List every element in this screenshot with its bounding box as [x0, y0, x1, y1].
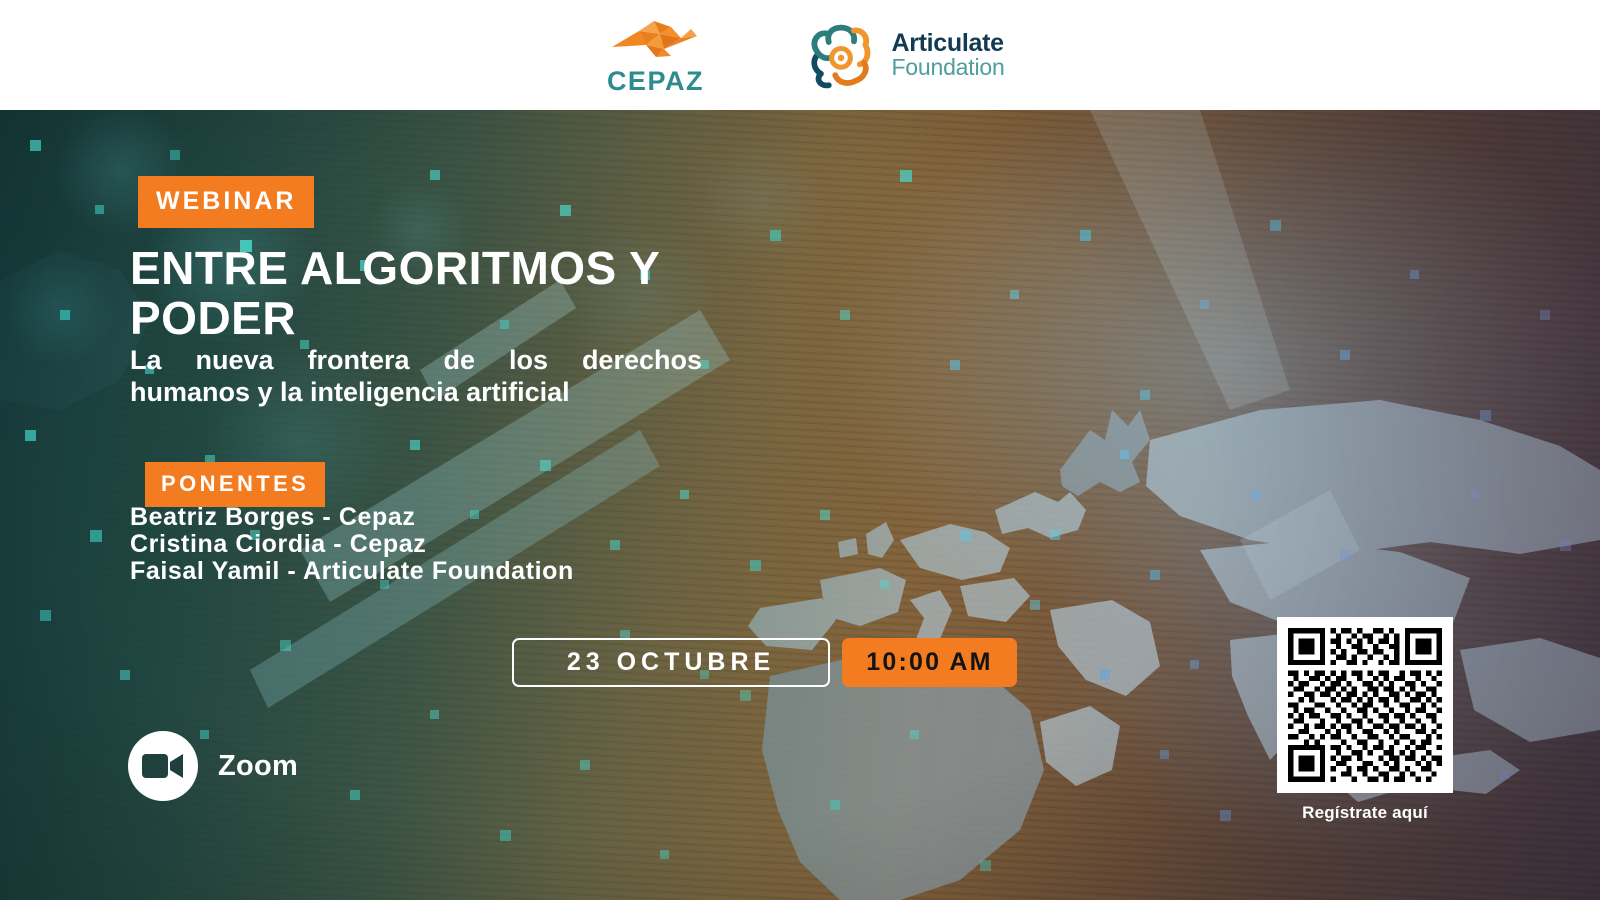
event-date-pill: 23 OCTUBRE — [512, 638, 830, 687]
qr-code-icon[interactable] — [1288, 628, 1442, 782]
origami-crane-icon — [608, 16, 703, 66]
page-title: ENTRE ALGORITMOS Y PODER — [130, 243, 820, 343]
speakers-badge: PONENTES — [145, 462, 325, 507]
video-camera-icon — [142, 753, 184, 779]
zoom-icon-circle — [128, 731, 198, 801]
poster-content: WEBINAR ENTRE ALGORITMOS Y PODER La nuev… — [0, 110, 1600, 900]
cepaz-logo: CEPAZ — [595, 16, 715, 95]
event-time-pill: 10:00 AM — [842, 638, 1017, 687]
speaker-item: Beatriz Borges - Cepaz — [130, 504, 574, 531]
speaker-item: Cristina Ciordia - Cepaz — [130, 531, 574, 558]
qr-caption: Regístrate aquí — [1277, 803, 1453, 823]
title-line-1: ENTRE ALGORITMOS Y — [130, 243, 820, 293]
articulate-wordmark-line2: Foundation — [891, 56, 1004, 79]
articulate-circle-mark-icon — [805, 19, 877, 91]
articulate-wordmark-line1: Articulate — [891, 31, 1004, 57]
registration-qr-block[interactable]: Regístrate aquí — [1277, 617, 1453, 823]
page-subtitle: La nueva frontera de los derechos humano… — [130, 345, 702, 408]
webinar-poster: CEPAZ Articula — [0, 0, 1600, 900]
title-line-2: PODER — [130, 293, 820, 343]
platform-row: Zoom — [128, 731, 298, 801]
articulate-foundation-logo: Articulate Foundation — [805, 19, 1004, 91]
speakers-list: Beatriz Borges - Cepaz Cristina Ciordia … — [130, 504, 574, 585]
platform-label: Zoom — [218, 750, 298, 783]
webinar-badge: WEBINAR — [138, 176, 314, 228]
cepaz-wordmark: CEPAZ — [607, 68, 704, 95]
speaker-item: Faisal Yamil - Articulate Foundation — [130, 558, 574, 585]
qr-code-box[interactable] — [1277, 617, 1453, 793]
logo-bar: CEPAZ Articula — [0, 0, 1600, 110]
subtitle-line-1: La nueva frontera de los derechos — [130, 345, 702, 377]
subtitle-line-2: humanos y la inteligencia artificial — [130, 377, 702, 409]
